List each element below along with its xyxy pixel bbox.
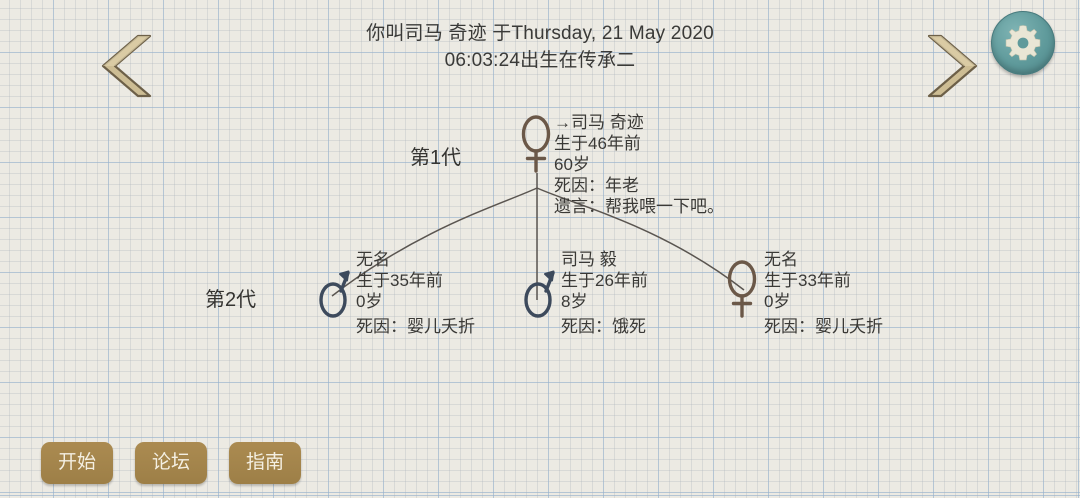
person-cause-child-1: 死因：婴儿夭折 bbox=[356, 316, 475, 337]
start-button[interactable]: 开始 bbox=[41, 442, 113, 484]
person-age-root: 60岁 bbox=[554, 154, 724, 175]
person-last-words-root: 遗言：帮我喂一下吧。 bbox=[554, 196, 724, 217]
person-born-root: 生于46年前 bbox=[554, 133, 724, 154]
settings-button[interactable] bbox=[991, 11, 1055, 75]
person-cause-child-3: 死因：婴儿夭折 bbox=[764, 316, 883, 337]
female-symbol-icon[interactable] bbox=[519, 113, 553, 175]
person-born-child-1: 生于35年前 bbox=[356, 270, 475, 291]
game-screen: 你叫司马 奇迹 于Thursday, 21 May 2020 06:03:24出… bbox=[0, 0, 1080, 498]
person-name-child-2: 司马 毅 bbox=[561, 249, 648, 270]
person-age-child-1: 0岁 bbox=[356, 291, 475, 312]
page-title: 你叫司马 奇迹 于Thursday, 21 May 2020 06:03:24出… bbox=[0, 20, 1080, 74]
person-born-child-2: 生于26年前 bbox=[561, 270, 648, 291]
person-info-root: →司马 奇迹 生于46年前 60岁 死因：年老 遗言：帮我喂一下吧。 bbox=[554, 112, 724, 217]
male-symbol-icon[interactable] bbox=[523, 264, 557, 320]
gear-icon bbox=[1003, 23, 1043, 63]
person-name-child-3: 无名 bbox=[764, 249, 883, 270]
male-symbol-icon[interactable] bbox=[318, 264, 352, 320]
person-age-child-2: 8岁 bbox=[561, 291, 648, 312]
title-line-2: 06:03:24出生在传承二 bbox=[0, 47, 1080, 74]
person-born-child-3: 生于33年前 bbox=[764, 270, 883, 291]
family-tree-connectors bbox=[0, 0, 1080, 498]
person-info-child-2: 司马 毅 生于26年前 8岁 死因：饿死 bbox=[561, 249, 648, 337]
next-generation-button[interactable] bbox=[925, 33, 987, 99]
person-cause-child-2: 死因：饿死 bbox=[561, 316, 648, 337]
title-line-1: 你叫司马 奇迹 于Thursday, 21 May 2020 bbox=[0, 20, 1080, 47]
person-info-child-3: 无名 生于33年前 0岁 死因：婴儿夭折 bbox=[764, 249, 883, 337]
generation-1-label: 第1代 bbox=[410, 141, 461, 170]
guide-button[interactable]: 指南 bbox=[229, 442, 301, 484]
female-symbol-icon[interactable] bbox=[726, 258, 760, 320]
person-age-child-3: 0岁 bbox=[764, 291, 883, 312]
forum-button[interactable]: 论坛 bbox=[135, 442, 207, 484]
prev-generation-button[interactable] bbox=[92, 33, 154, 99]
generation-2-label: 第2代 bbox=[205, 283, 256, 312]
person-name-root: →司马 奇迹 bbox=[554, 112, 724, 133]
person-cause-root: 死因：年老 bbox=[554, 175, 724, 196]
bottom-button-bar: 开始 论坛 指南 bbox=[41, 442, 301, 484]
person-name-child-1: 无名 bbox=[356, 249, 475, 270]
person-info-child-1: 无名 生于35年前 0岁 死因：婴儿夭折 bbox=[356, 249, 475, 337]
